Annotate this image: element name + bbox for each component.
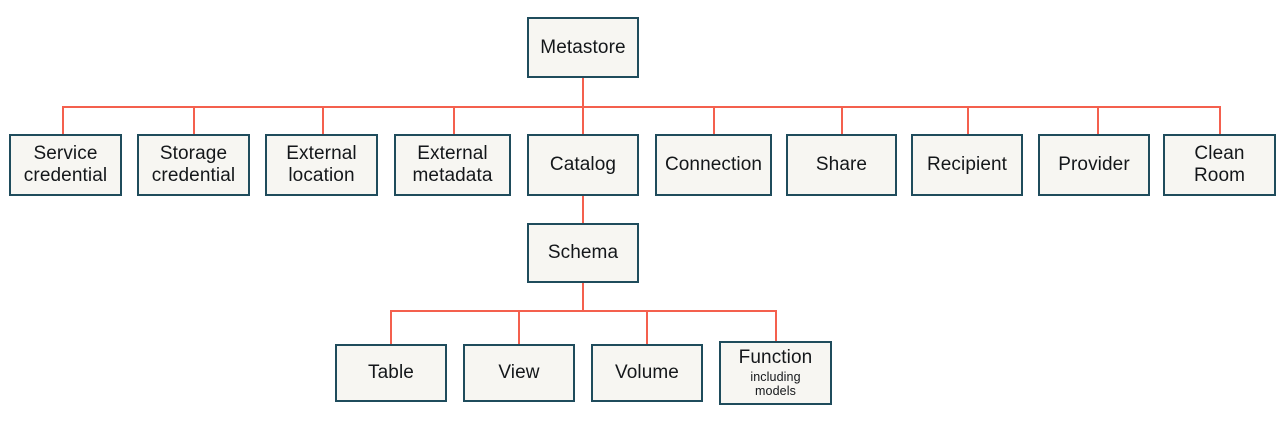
edge-drop-view	[518, 310, 520, 344]
node-view[interactable]: View	[463, 344, 575, 402]
node-share[interactable]: Share	[786, 134, 897, 196]
node-metastore-label: Metastore	[540, 37, 625, 59]
edge-drop-external-metadata	[453, 106, 455, 134]
node-share-label: Share	[816, 154, 867, 176]
edge-drop-recipient	[967, 106, 969, 134]
node-provider-label: Provider	[1058, 154, 1130, 176]
node-schema[interactable]: Schema	[527, 223, 639, 283]
node-connection[interactable]: Connection	[655, 134, 772, 196]
node-function-label: Function	[739, 347, 813, 369]
node-recipient-label: Recipient	[927, 154, 1007, 176]
edge-metastore-stem	[582, 78, 584, 107]
node-volume[interactable]: Volume	[591, 344, 703, 402]
node-metastore[interactable]: Metastore	[527, 17, 639, 78]
node-function-sublabel: including models	[750, 370, 800, 399]
edge-drop-clean-room	[1219, 106, 1221, 134]
node-service-credential[interactable]: Service credential	[9, 134, 122, 196]
edge-drop-connection	[713, 106, 715, 134]
edge-drop-table	[390, 310, 392, 344]
node-external-metadata[interactable]: External metadata	[394, 134, 511, 196]
edge-schema-stem	[582, 283, 584, 311]
node-volume-label: Volume	[615, 362, 679, 384]
node-external-location-label: External location	[286, 143, 357, 188]
node-catalog[interactable]: Catalog	[527, 134, 639, 196]
edge-drop-catalog	[582, 106, 584, 134]
node-clean-room[interactable]: Clean Room	[1163, 134, 1276, 196]
node-connection-label: Connection	[665, 154, 762, 176]
node-clean-room-label: Clean Room	[1194, 143, 1245, 188]
edge-drop-function	[775, 310, 777, 341]
node-storage-credential-label: Storage credential	[152, 143, 235, 188]
edge-level3-bus	[390, 310, 776, 312]
node-catalog-label: Catalog	[550, 154, 616, 176]
hierarchy-diagram: Metastore Service credential Storage cre…	[0, 0, 1286, 421]
edge-level1-bus	[62, 106, 1221, 108]
node-schema-label: Schema	[548, 242, 618, 264]
node-external-location[interactable]: External location	[265, 134, 378, 196]
node-view-label: View	[498, 362, 539, 384]
node-table-label: Table	[368, 362, 414, 384]
node-external-metadata-label: External metadata	[412, 143, 492, 188]
node-provider[interactable]: Provider	[1038, 134, 1150, 196]
edge-drop-share	[841, 106, 843, 134]
edge-drop-provider	[1097, 106, 1099, 134]
edge-drop-service-credential	[62, 106, 64, 134]
node-recipient[interactable]: Recipient	[911, 134, 1023, 196]
edge-catalog-to-schema	[582, 196, 584, 223]
node-service-credential-label: Service credential	[24, 143, 107, 188]
edge-drop-external-location	[322, 106, 324, 134]
node-function[interactable]: Function including models	[719, 341, 832, 405]
edge-drop-volume	[646, 310, 648, 344]
edge-drop-storage-credential	[193, 106, 195, 134]
node-table[interactable]: Table	[335, 344, 447, 402]
node-storage-credential[interactable]: Storage credential	[137, 134, 250, 196]
